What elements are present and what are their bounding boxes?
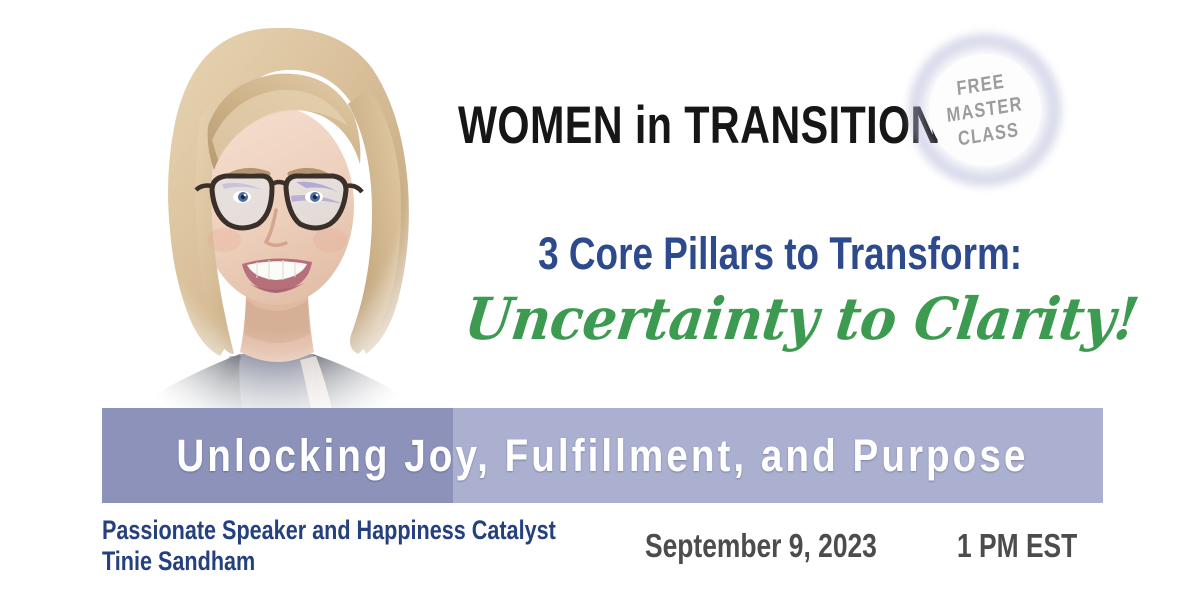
subtitle-script-text: Uncertainty to Clarity!: [461, 283, 1142, 355]
free-masterclass-badge: FREE MASTER CLASS: [908, 33, 1062, 187]
badge-circle: FREE MASTER CLASS: [929, 54, 1041, 166]
subtitle-script: Uncertainty to Clarity!: [440, 283, 1105, 355]
speaker-credit: Passionate Speaker and Happiness Catalys…: [102, 515, 669, 577]
subtitle-primary-text: 3 Core Pillars to Transform:: [538, 228, 1022, 280]
event-time: 1 PM EST: [957, 526, 1077, 566]
badge-text: FREE MASTER CLASS: [933, 66, 1037, 155]
event-datetime: September 9, 20231 PM EST: [645, 526, 1107, 566]
page-title: WOMEN in TRANSITION: [458, 95, 941, 157]
tagline-banner-text: Unlocking Joy, Fulfillment, and Purpose: [102, 408, 1103, 503]
tagline-banner: Unlocking Joy, Fulfillment, and Purpose: [102, 408, 1103, 503]
tagline-text: Unlocking Joy, Fulfillment, and Purpose: [176, 430, 1028, 482]
speaker-name: Tinie Sandham: [102, 546, 556, 577]
event-poster: WOMEN in TRANSITION FREE MASTER CLASS 3 …: [0, 0, 1200, 600]
speaker-role: Passionate Speaker and Happiness Catalys…: [102, 515, 556, 546]
subtitle-primary: 3 Core Pillars to Transform:: [455, 228, 1105, 280]
event-date: September 9, 2023: [645, 526, 877, 566]
